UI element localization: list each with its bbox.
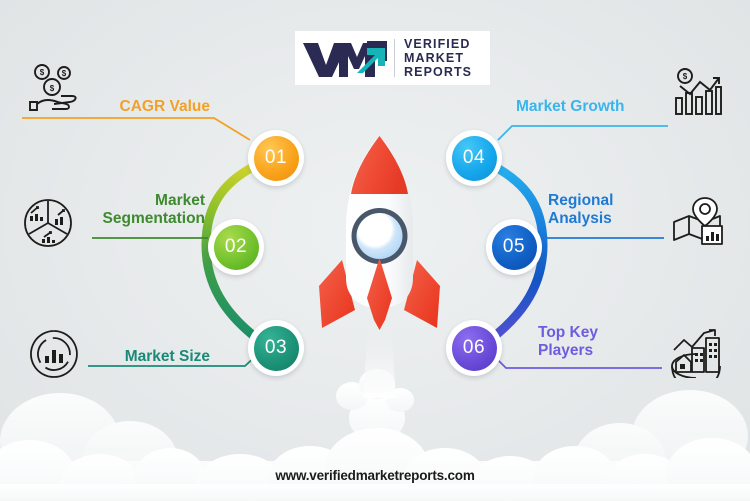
website-url[interactable]: www.verifiedmarketreports.com [0,468,750,483]
brand-logo: VERIFIED MARKET REPORTS [295,31,490,85]
step-number-05: 05 [492,225,537,270]
step-label-06: Top Key Players [538,324,668,361]
logo-divider [394,39,395,77]
hand-holding-coins-icon: $ $ $ [28,62,80,114]
growth-bar-chart-icon: $ [672,66,724,118]
step-badge-03[interactable]: 03 [248,320,304,376]
brand-word-2: MARKET [404,51,472,65]
brand-wordmark: VERIFIED MARKET REPORTS [404,37,472,79]
infographic-canvas: VERIFIED MARKET REPORTS 01 CAGR Value $ … [0,0,750,501]
step-badge-05[interactable]: 05 [486,219,542,275]
segmented-pie-chart-icon [22,197,74,249]
step-number-06: 06 [452,326,497,371]
map-pin-analysis-icon [672,196,724,248]
step-badge-04[interactable]: 04 [446,130,502,186]
svg-text:$: $ [50,84,55,93]
brand-word-1: VERIFIED [404,37,472,51]
step-number-01: 01 [254,136,299,181]
step-number-02: 02 [214,225,259,270]
step-number-04: 04 [452,136,497,181]
svg-text:$: $ [683,72,688,81]
donut-bar-chart-icon [28,328,80,380]
brand-word-3: REPORTS [404,65,472,79]
step-badge-06[interactable]: 06 [446,320,502,376]
step-number-03: 03 [254,326,299,371]
step-label-04: Market Growth [516,98,686,116]
step-label-03: Market Size [70,348,210,366]
vmr-monogram-icon [299,37,391,79]
step-badge-01[interactable]: 01 [248,130,304,186]
rocket-icon [297,118,462,418]
svg-text:$: $ [40,68,45,77]
svg-text:$: $ [62,69,67,78]
step-badge-02[interactable]: 02 [208,219,264,275]
step-label-02: Market Segmentation [60,192,205,229]
step-label-05: Regional Analysis [548,192,673,229]
city-growth-icon [670,326,722,378]
